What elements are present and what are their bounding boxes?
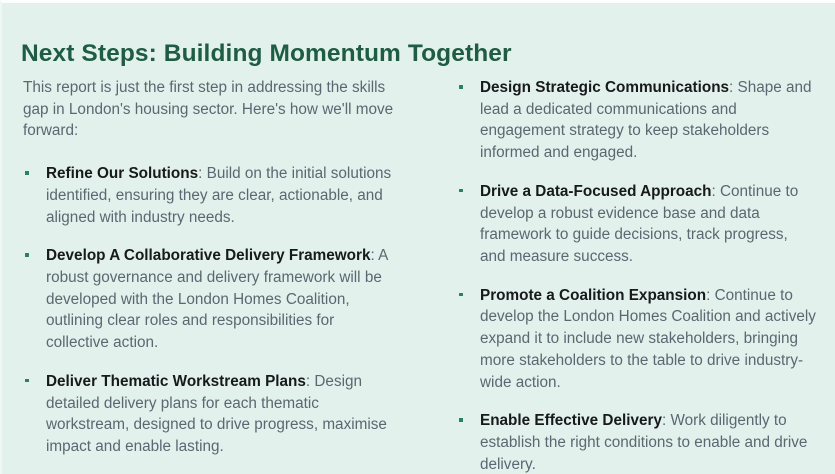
bullet-square-icon	[25, 253, 29, 257]
two-column-body: This report is just the first step in ad…	[2, 77, 835, 474]
list-item: Drive a Data-Focused Approach: Continue …	[457, 181, 817, 268]
list-item: Design Strategic Communications: Shape a…	[457, 77, 817, 164]
list-item: Develop A Collaborative Delivery Framewo…	[23, 245, 396, 354]
bullet-square-icon	[459, 418, 463, 422]
list-item: Refine Our Solutions: Build on the initi…	[23, 163, 396, 228]
bullet-square-icon	[459, 189, 463, 193]
page-title: Next Steps: Building Momentum Together	[21, 41, 512, 68]
list-item: Promote a Coalition Expansion: Continue …	[457, 285, 817, 394]
list-item-lead: Enable Effective Delivery	[480, 412, 662, 429]
list-item: Enable Effective Delivery: Work diligent…	[457, 410, 817, 474]
intro-paragraph: This report is just the first step in ad…	[23, 77, 396, 142]
list-item-lead: Develop A Collaborative Delivery Framewo…	[46, 247, 370, 264]
list-item-lead: Refine Our Solutions	[46, 165, 198, 182]
list-item: Deliver Thematic Workstream Plans: Desig…	[23, 371, 396, 458]
bullet-square-icon	[459, 293, 463, 297]
list-item-lead: Deliver Thematic Workstream Plans	[46, 373, 306, 390]
left-column-bullet-list: Refine Our Solutions: Build on the initi…	[23, 163, 396, 458]
right-column-bullet-list: Design Strategic Communications: Shape a…	[457, 77, 817, 474]
bullet-square-icon	[459, 85, 463, 89]
right-column: Design Strategic Communications: Shape a…	[420, 77, 835, 474]
list-item-lead: Promote a Coalition Expansion	[480, 287, 706, 304]
list-item-lead: Design Strategic Communications	[480, 79, 729, 96]
bullet-square-icon	[25, 379, 29, 383]
slide-canvas: Next Steps: Building Momentum Together T…	[0, 0, 835, 474]
bullet-square-icon	[25, 171, 29, 175]
left-column: This report is just the first step in ad…	[2, 77, 420, 458]
list-item-lead: Drive a Data-Focused Approach	[480, 183, 712, 200]
